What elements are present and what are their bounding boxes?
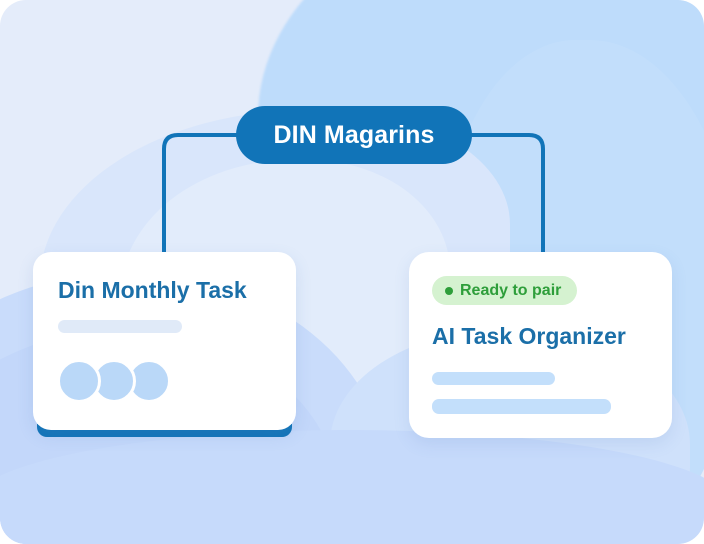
card-left-title: Din Monthly Task [58,279,247,302]
diagram-canvas: DIN Magarins Din Monthly Task Ready to p… [0,0,704,544]
status-badge: Ready to pair [432,276,577,305]
card-ai-task-organizer[interactable]: Ready to pair AI Task Organizer [409,252,672,438]
root-node-label: DIN Magarins [274,123,435,148]
connector-left [164,135,250,254]
card-din-monthly-task[interactable]: Din Monthly Task [33,252,296,430]
card-right-skeleton-bar-1 [432,372,555,385]
card-right-skeleton-bar-2 [432,399,611,414]
card-left-avatar-group [57,357,207,399]
card-left-skeleton-bar-1 [58,320,182,333]
connector-right [458,135,543,254]
avatar [57,359,101,403]
status-badge-label: Ready to pair [460,283,561,299]
root-node-pill[interactable]: DIN Magarins [236,106,472,164]
status-dot-icon [445,287,453,295]
card-right-title: AI Task Organizer [432,325,626,348]
